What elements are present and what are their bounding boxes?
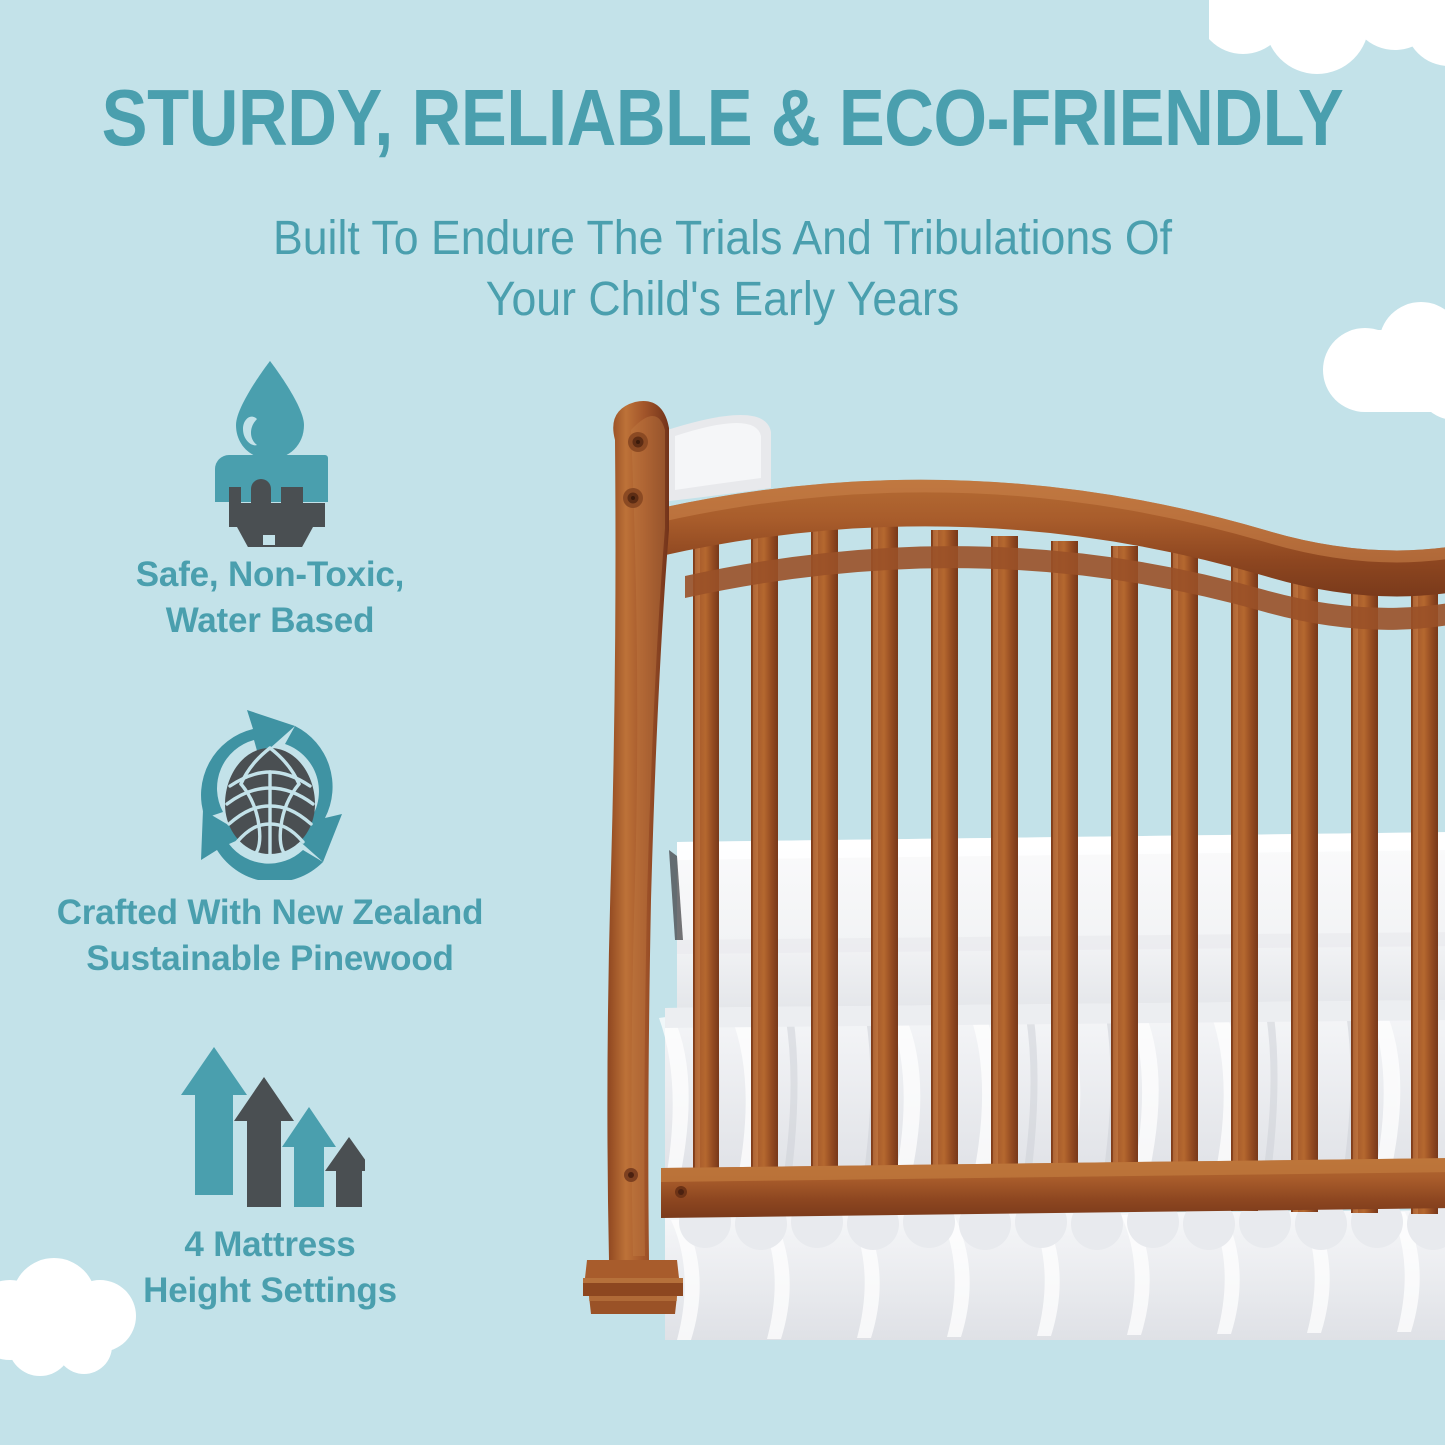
feature-2-line-1: 4 Mattress <box>0 1222 550 1268</box>
feature-label-mattress-heights: 4 Mattress Height Settings <box>0 1222 550 1314</box>
infographic-canvas: STURDY, RELIABLE & ECO-FRIENDLY Built To… <box>0 0 1445 1445</box>
feature-item-safe-non-toxic: Safe, Non-Toxic, Water Based <box>0 352 550 644</box>
subtitle-line-1: Built To Endure The Trials And Tribulati… <box>51 208 1395 269</box>
feature-2-line-2: Height Settings <box>0 1268 550 1314</box>
feature-1-line-2: Sustainable Pinewood <box>0 936 550 982</box>
four-arrows-height-icon <box>0 1022 550 1222</box>
pinecone-recycle-icon <box>0 690 550 890</box>
paintbrush-water-drop-icon <box>0 352 550 552</box>
feature-item-sustainable-pinewood: Crafted With New Zealand Sustainable Pin… <box>0 690 550 982</box>
page-title: STURDY, RELIABLE & ECO-FRIENDLY <box>101 78 1344 158</box>
feature-label-sustainable-pinewood: Crafted With New Zealand Sustainable Pin… <box>0 890 550 982</box>
subtitle-line-2: Your Child's Early Years <box>51 269 1395 330</box>
page-subtitle: Built To Endure The Trials And Tribulati… <box>51 208 1395 331</box>
feature-1-line-1: Crafted With New Zealand <box>0 890 550 936</box>
feature-0-line-1: Safe, Non-Toxic, <box>0 552 550 598</box>
wooden-baby-crib-photo <box>565 380 1445 1340</box>
feature-0-line-2: Water Based <box>0 598 550 644</box>
feature-item-mattress-heights: 4 Mattress Height Settings <box>0 1022 550 1314</box>
feature-label-safe-non-toxic: Safe, Non-Toxic, Water Based <box>0 552 550 644</box>
